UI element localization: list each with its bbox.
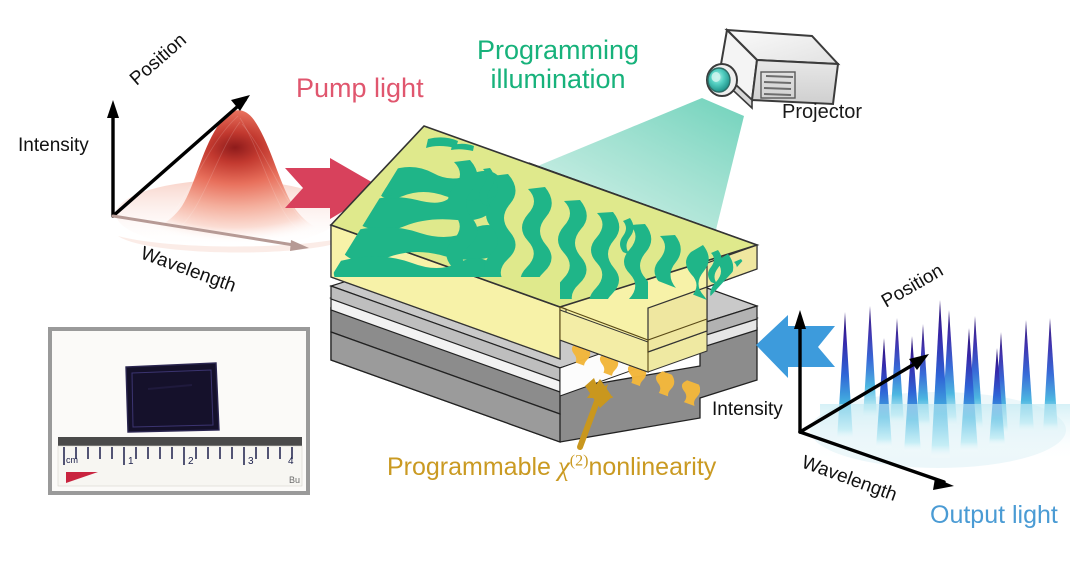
output-light-surface-plot bbox=[810, 300, 1070, 468]
output-axis-label-intensity: Intensity bbox=[712, 399, 783, 421]
crystal-chip bbox=[126, 363, 219, 432]
programmable-nonlinearity-label: Programmable χ(2)nonlinearity bbox=[387, 452, 716, 481]
chi-superscript: (2) bbox=[570, 453, 589, 470]
ruler-brand-text: Bu bbox=[289, 475, 300, 485]
figure-canvas: cm 1 2 3 4 Bu Pump light Programming ill… bbox=[0, 0, 1082, 568]
pump-light-label: Pump light bbox=[296, 74, 424, 103]
nonlinearity-prefix-text: Programmable bbox=[387, 453, 558, 481]
ruler bbox=[58, 437, 302, 486]
output-light-label: Output light bbox=[930, 502, 1058, 529]
projector-device bbox=[707, 30, 838, 108]
ruler-mark-1: 1 bbox=[128, 456, 134, 467]
sample-photo-svg bbox=[52, 331, 306, 491]
programming-illumination-label: Programming illumination bbox=[477, 36, 639, 94]
ruler-mark-4: 4 bbox=[288, 456, 294, 467]
chi-symbol: χ bbox=[558, 451, 570, 481]
ruler-mark-2: 2 bbox=[188, 456, 194, 467]
programming-illumination-line1: Programming bbox=[477, 36, 639, 65]
nonlinearity-suffix-text: nonlinearity bbox=[588, 453, 716, 481]
projector-label: Projector bbox=[782, 102, 862, 124]
ruler-unit-label: cm bbox=[66, 455, 78, 465]
programming-illumination-line2: illumination bbox=[477, 65, 639, 94]
sample-photo-inset: cm 1 2 3 4 Bu bbox=[48, 327, 310, 495]
ruler-mark-3: 3 bbox=[248, 456, 254, 467]
input-axis-label-intensity: Intensity bbox=[18, 135, 89, 157]
